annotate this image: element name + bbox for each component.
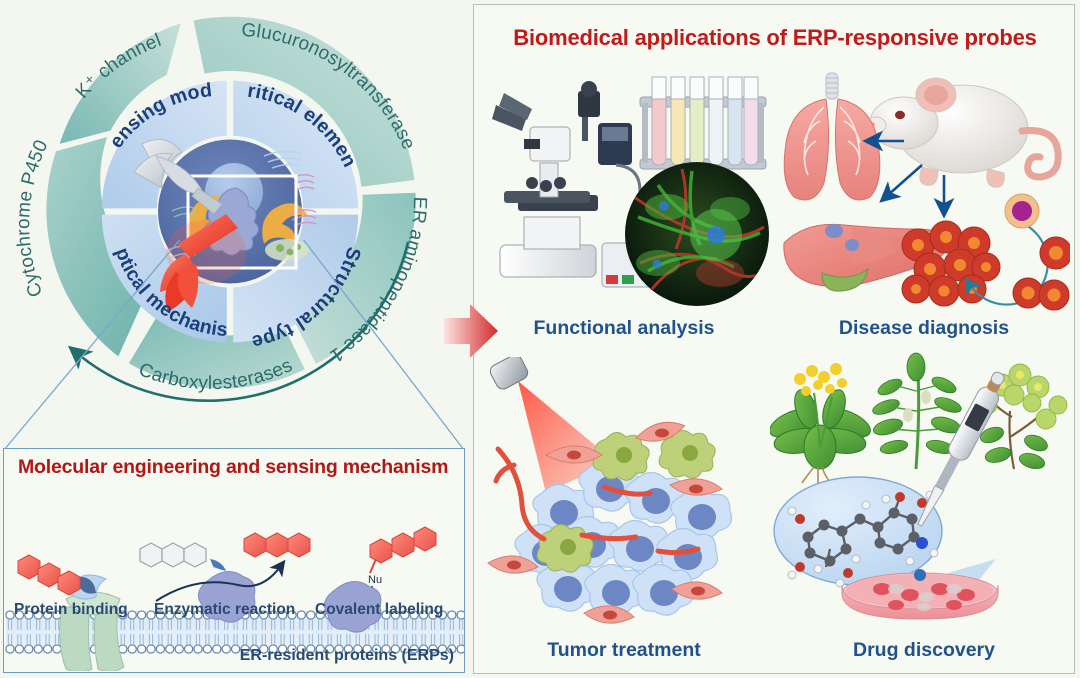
transition-arrow-red [440, 300, 502, 362]
probe-ring-chain-red-2 [370, 527, 436, 563]
mechanism-panel: Molecular engineering and sensing mechan… [3, 448, 465, 673]
tumor-microenvironment [488, 418, 732, 623]
fluorescence-micrograph-icon [625, 162, 769, 306]
dispensed-droplet [914, 569, 926, 581]
concentric-wheel-diagram: K⁺ channel Glucuronosyltransferase ER am… [10, 0, 460, 428]
disease-diagnosis-illustration [770, 67, 1070, 315]
nucleophile-label: Nu [368, 574, 382, 586]
app-label-disease-diagnosis: Disease diagnosis [774, 317, 1074, 340]
mechanism-item-label-2: Covalent labeling [315, 601, 443, 619]
medicinal-plant-1 [770, 363, 874, 485]
app-label-tumor-treatment: Tumor treatment [474, 639, 774, 662]
app-label-drug-discovery: Drug discovery [774, 639, 1074, 662]
drug-discovery-illustration [770, 351, 1070, 631]
mechanism-item-label-1: Enzymatic reaction [154, 601, 295, 619]
app-label-functional-analysis: Functional analysis [474, 317, 774, 340]
tumor-cell-cluster-icon [902, 221, 1000, 306]
lungs-icon [784, 73, 880, 200]
applications-panel-title: Biomedical applications of ERP-responsiv… [474, 25, 1076, 51]
test-tube-rack-icon [640, 77, 766, 169]
functional-analysis-illustration [482, 67, 774, 315]
mechanism-illustration: Nu [4, 449, 464, 671]
product-ring-chain-red [244, 533, 310, 557]
nitrogen-atom [916, 537, 928, 549]
mechanism-item-label-0: Protein binding [14, 601, 128, 619]
erp-membrane-caption: ER-resident proteins (ERPs) [240, 647, 454, 665]
figure-root: K⁺ channel Glucuronosyltransferase ER am… [0, 0, 1080, 678]
left-column: K⁺ channel Glucuronosyltransferase ER am… [0, 0, 470, 678]
tumor-treatment-illustration [484, 357, 776, 629]
applications-panel: Biomedical applications of ERP-responsiv… [473, 4, 1075, 674]
probe-ring-chain-red-1 [18, 555, 80, 595]
substrate-ring-chain-gray [140, 543, 206, 567]
laboratory-mouse-icon [866, 78, 1058, 187]
